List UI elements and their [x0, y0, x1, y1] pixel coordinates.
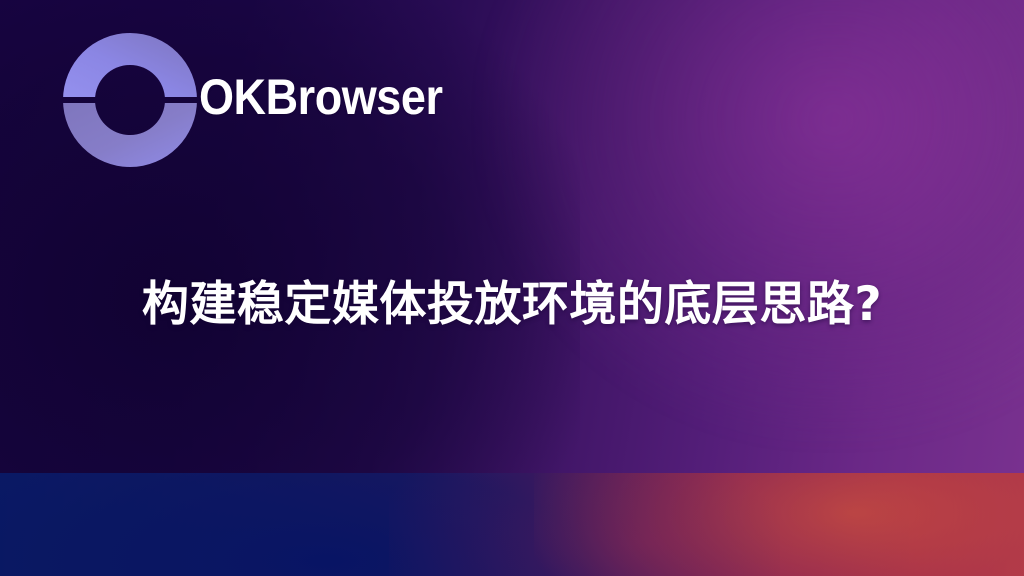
bottom-gradient-band — [0, 473, 1024, 576]
brand-wordmark: OKBrowser — [199, 68, 443, 126]
ring-split-logo-icon — [62, 32, 198, 168]
slide-canvas: OKBrowser 构建稳定媒体投放环境的底层思路? — [0, 0, 1024, 576]
page-title: 构建稳定媒体投放环境的底层思路? — [0, 276, 1024, 334]
band-warm-glow — [534, 473, 1024, 576]
